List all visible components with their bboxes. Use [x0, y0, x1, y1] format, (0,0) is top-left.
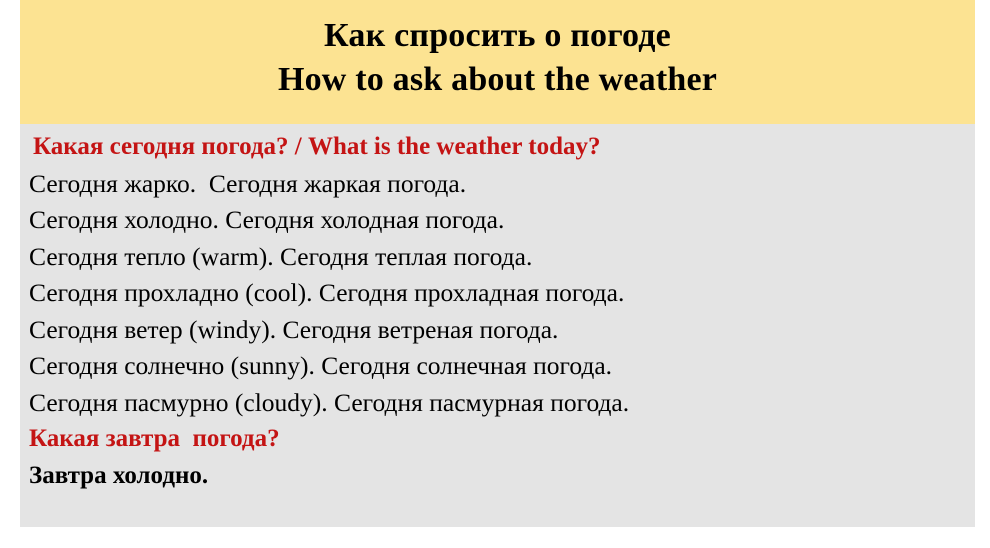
example-line: Сегодня солнечно (sunny). Сегодня солнеч…	[29, 348, 975, 385]
slide-title-english: How to ask about the weather	[278, 58, 717, 102]
tomorrow-question: Какая завтра погода?	[29, 421, 975, 458]
question-heading: Какая сегодня погода? / What is the weat…	[29, 129, 975, 166]
example-line: Сегодня ветер (windy). Сегодня ветреная …	[29, 312, 975, 349]
title-banner: Как спросить о погоде How to ask about t…	[20, 0, 975, 124]
tomorrow-answer: Завтра холодно.	[29, 458, 975, 495]
example-line: Сегодня пасмурно (cloudy). Сегодня пасму…	[29, 385, 975, 422]
slide-title-russian: Как спросить о погоде	[324, 14, 671, 58]
example-line: Сегодня тепло (warm). Сегодня теплая пог…	[29, 239, 975, 276]
example-line: Сегодня жарко. Сегодня жаркая погода.	[29, 166, 975, 203]
slide: Как спросить о погоде How to ask about t…	[0, 0, 990, 548]
example-line: Сегодня холодно. Сегодня холодная погода…	[29, 202, 975, 239]
content-panel: Какая сегодня погода? / What is the weat…	[20, 124, 975, 527]
example-line: Сегодня прохладно (cool). Сегодня прохла…	[29, 275, 975, 312]
